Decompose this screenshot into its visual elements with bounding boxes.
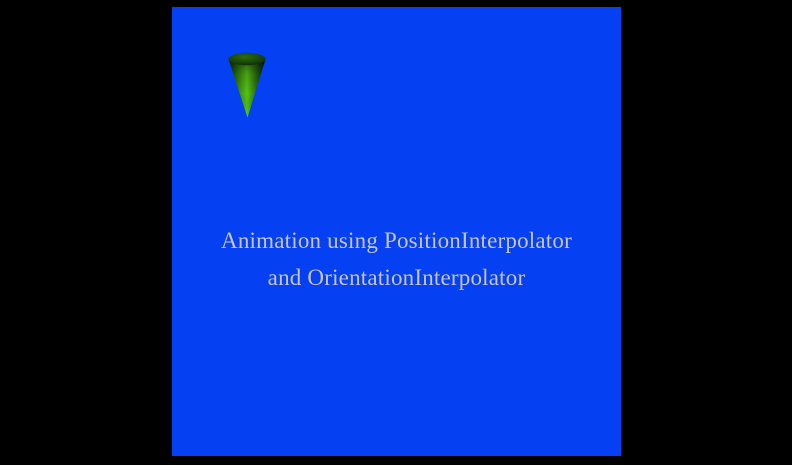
caption-line-1: Animation using PositionInterpolator <box>172 222 621 259</box>
cone-icon <box>227 52 267 118</box>
scene-caption: Animation using PositionInterpolator and… <box>172 222 621 296</box>
scene-stage: Animation using PositionInterpolator and… <box>0 0 792 465</box>
caption-line-2: and OrientationInterpolator <box>172 259 621 296</box>
cone-object[interactable] <box>227 52 267 118</box>
x3d-viewport[interactable]: Animation using PositionInterpolator and… <box>172 7 621 456</box>
